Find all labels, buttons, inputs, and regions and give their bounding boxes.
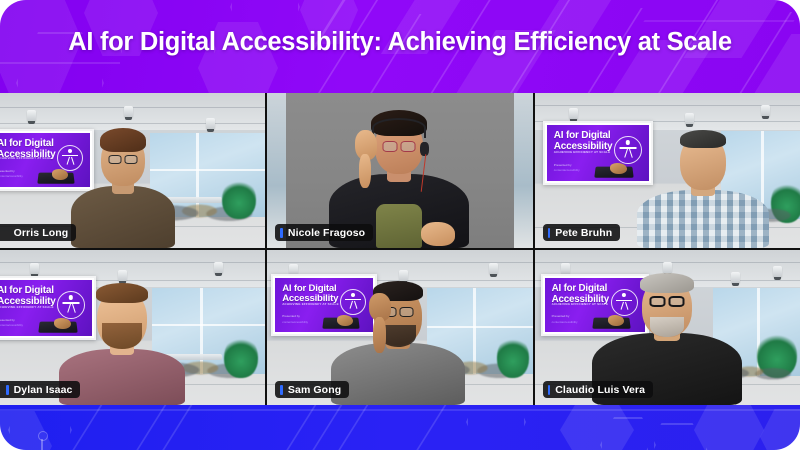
slide-subtitle: ACHIEVING EFFICIENCY AT SCALE (554, 150, 611, 154)
beard (650, 317, 684, 337)
ceiling-lamp (30, 263, 39, 275)
hand (421, 222, 455, 246)
eyeglasses (109, 155, 138, 164)
mic-indicator (280, 228, 283, 238)
office-plant (222, 179, 256, 219)
slide-link: contentaccessibility (0, 323, 23, 327)
participant-name: Claudio Luis Vera (555, 384, 645, 396)
mic-indicator (280, 385, 283, 395)
ceiling-lamp (569, 108, 578, 120)
slide-subtitle: ACHIEVING EFFICIENCY AT SCALE (0, 156, 54, 160)
headset-icon (372, 118, 426, 138)
eyeglasses (649, 296, 684, 307)
slide-title-line1: AI for Digital (0, 138, 54, 149)
beard (102, 323, 142, 349)
office-plant (497, 336, 529, 378)
slide-presenter-label: Presented by (0, 169, 15, 173)
name-badge-nicole-fragoso: Nicole Fragoso (275, 224, 373, 241)
participant-tile-sam-gong[interactable]: AI for Digital Accessibility ACHIEVING E… (267, 250, 532, 405)
mic-indicator (548, 228, 551, 238)
participant-name: Pete Bruhn (555, 227, 612, 239)
participant-name: Sam Gong (288, 384, 341, 396)
footer-hex-pattern (0, 405, 800, 450)
participant-name: Dylan Isaac (14, 384, 73, 396)
mic-indicator (6, 385, 9, 395)
video-conference-screenshot: AI for Digital Accessibility: Achieving … (0, 0, 800, 450)
ceiling-lamp (206, 118, 215, 130)
name-badge-pete-bruhn: Pete Bruhn (543, 224, 621, 241)
ceiling-lamp (27, 110, 36, 122)
name-badge-dylan-isaac: Dylan Isaac (0, 381, 80, 398)
slide-link: contentaccessibility (282, 320, 308, 324)
name-badge-claudio-luis-vera: Claudio Luis Vera (543, 381, 653, 398)
page-title: AI for Digital Accessibility: Achieving … (0, 28, 800, 57)
slide-link: contentaccessibility (552, 320, 578, 324)
participant-tile-nicole-fragoso[interactable]: Nicole Fragoso (267, 93, 532, 248)
participant-tile-pete-bruhn[interactable]: AI for Digital Accessibility ACHIEVING E… (535, 93, 800, 248)
ceiling-lamp (773, 266, 782, 278)
mic-indicator (548, 385, 551, 395)
eyeglasses (383, 141, 416, 152)
ceiling-lamp (489, 263, 498, 275)
slide-presenter-label: Presented by (282, 314, 300, 318)
participant-name: Orris Long (14, 227, 69, 239)
participant-tile-dylan-isaac[interactable]: AI for Digital Accessibility ACHIEVING E… (0, 250, 265, 405)
participant-video-image (613, 93, 793, 248)
participant-video-grid: AI for Digital Accessibility ACHIEVING E… (0, 93, 800, 405)
participant-tile-orris-long[interactable]: AI for Digital Accessibility ACHIEVING E… (0, 93, 265, 248)
name-badge-sam-gong: Sam Gong (275, 381, 349, 398)
participant-name: Nicole Fragoso (288, 227, 365, 239)
forearm (373, 317, 386, 353)
name-badge-orris-long: Orris Long (0, 224, 76, 241)
slide-link: contentaccessibility (0, 174, 23, 178)
slide-presenter-label: Presented by (552, 314, 570, 318)
slide-presenter-label: Presented by (0, 318, 15, 322)
slide-presenter-label: Presented by (554, 163, 572, 167)
slide-title-line1: AI for Digital (554, 130, 611, 141)
office-plant (224, 336, 258, 378)
footer-banner (0, 405, 800, 450)
participant-tile-claudio-luis-vera[interactable]: AI for Digital Accessibility ACHIEVING E… (535, 250, 800, 405)
slide-link: contentaccessibility (554, 168, 580, 172)
ceiling-lamp (214, 262, 223, 274)
title-banner: AI for Digital Accessibility: Achieving … (0, 0, 800, 93)
forearm (359, 154, 371, 188)
